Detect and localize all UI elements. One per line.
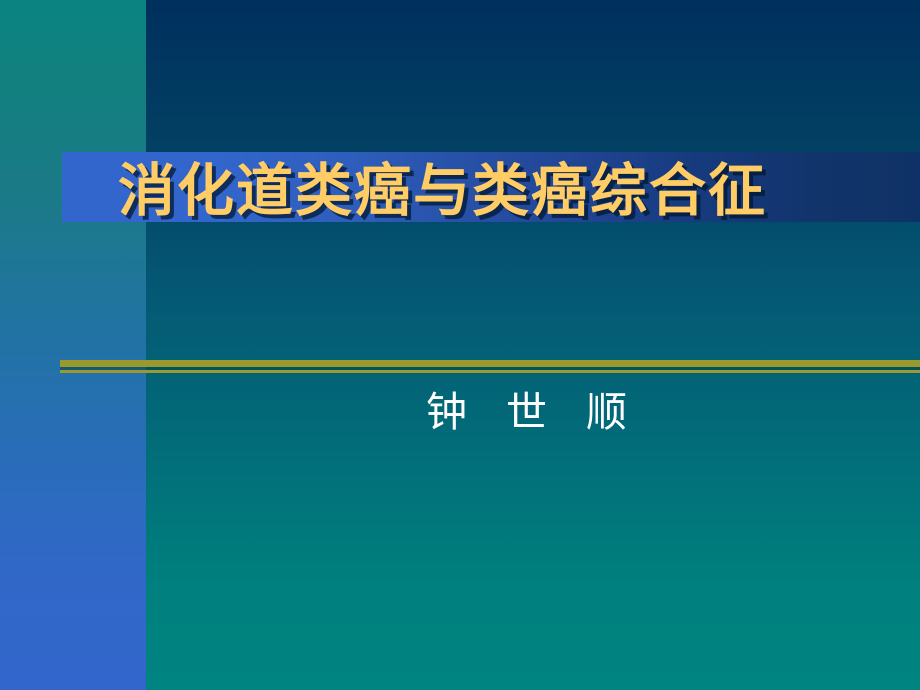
left-accent-band bbox=[0, 0, 146, 690]
presentation-slide: 消化道类癌与类癌综合征 钟 世 顺 bbox=[0, 0, 920, 690]
slide-title: 消化道类癌与类癌综合征 bbox=[118, 150, 878, 232]
divider-rule-thick bbox=[60, 360, 920, 367]
slide-subtitle-author: 钟 世 顺 bbox=[146, 378, 920, 438]
divider-rule bbox=[60, 360, 920, 376]
divider-rule-thin bbox=[60, 370, 920, 373]
